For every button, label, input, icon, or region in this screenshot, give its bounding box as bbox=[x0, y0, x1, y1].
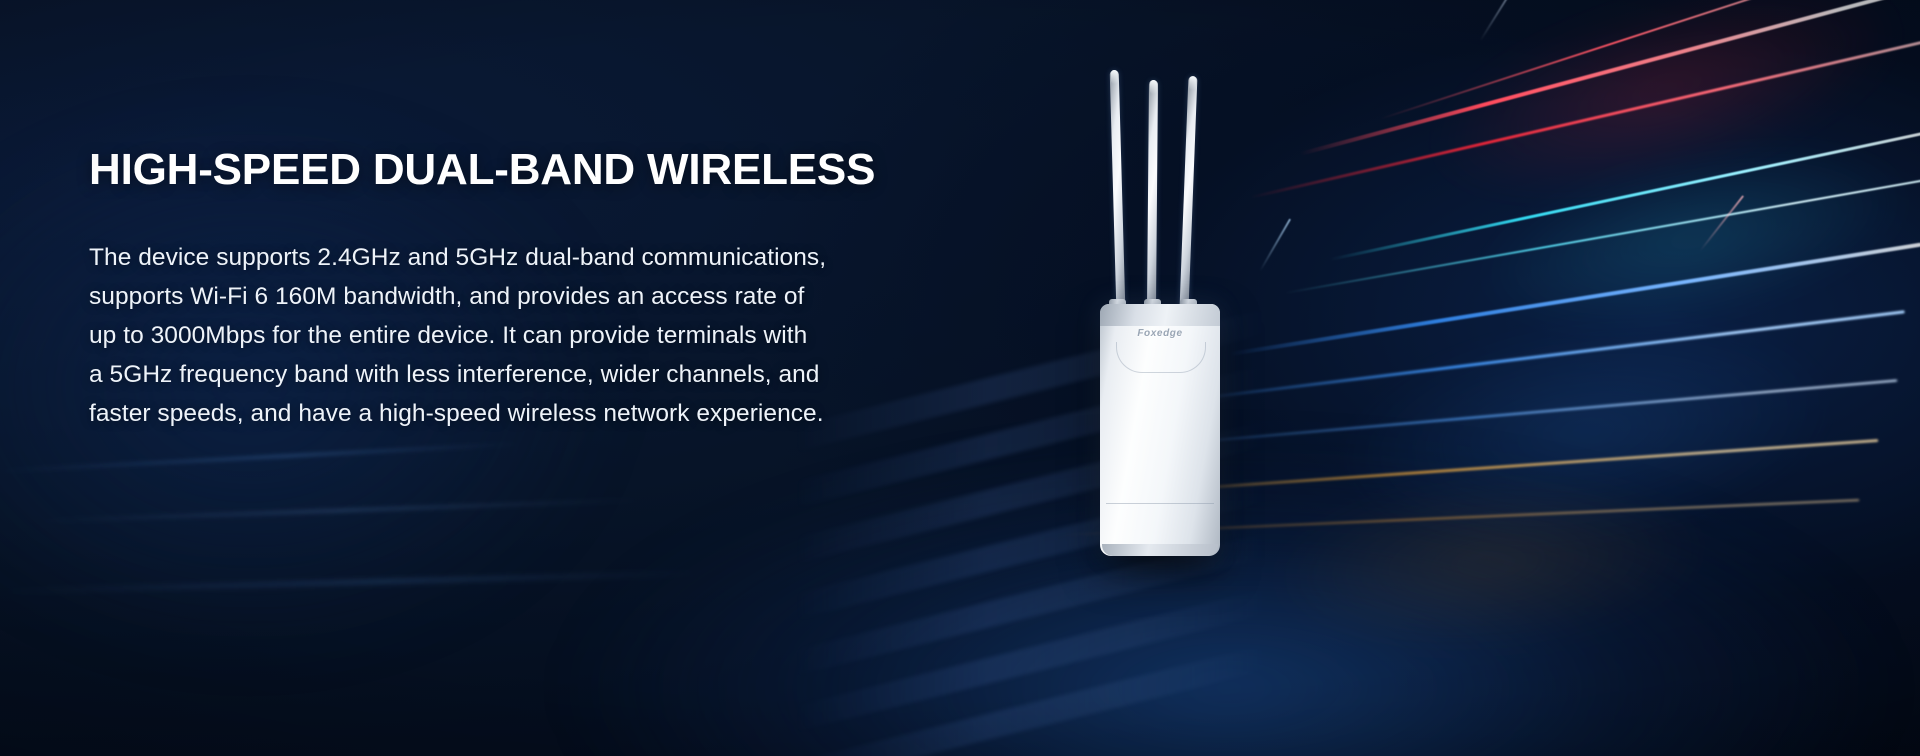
vignette-overlay bbox=[0, 0, 1920, 756]
product-banner: Foxedge HIGH-SPEED DUAL-BAND WIRELESS Th… bbox=[0, 0, 1920, 756]
